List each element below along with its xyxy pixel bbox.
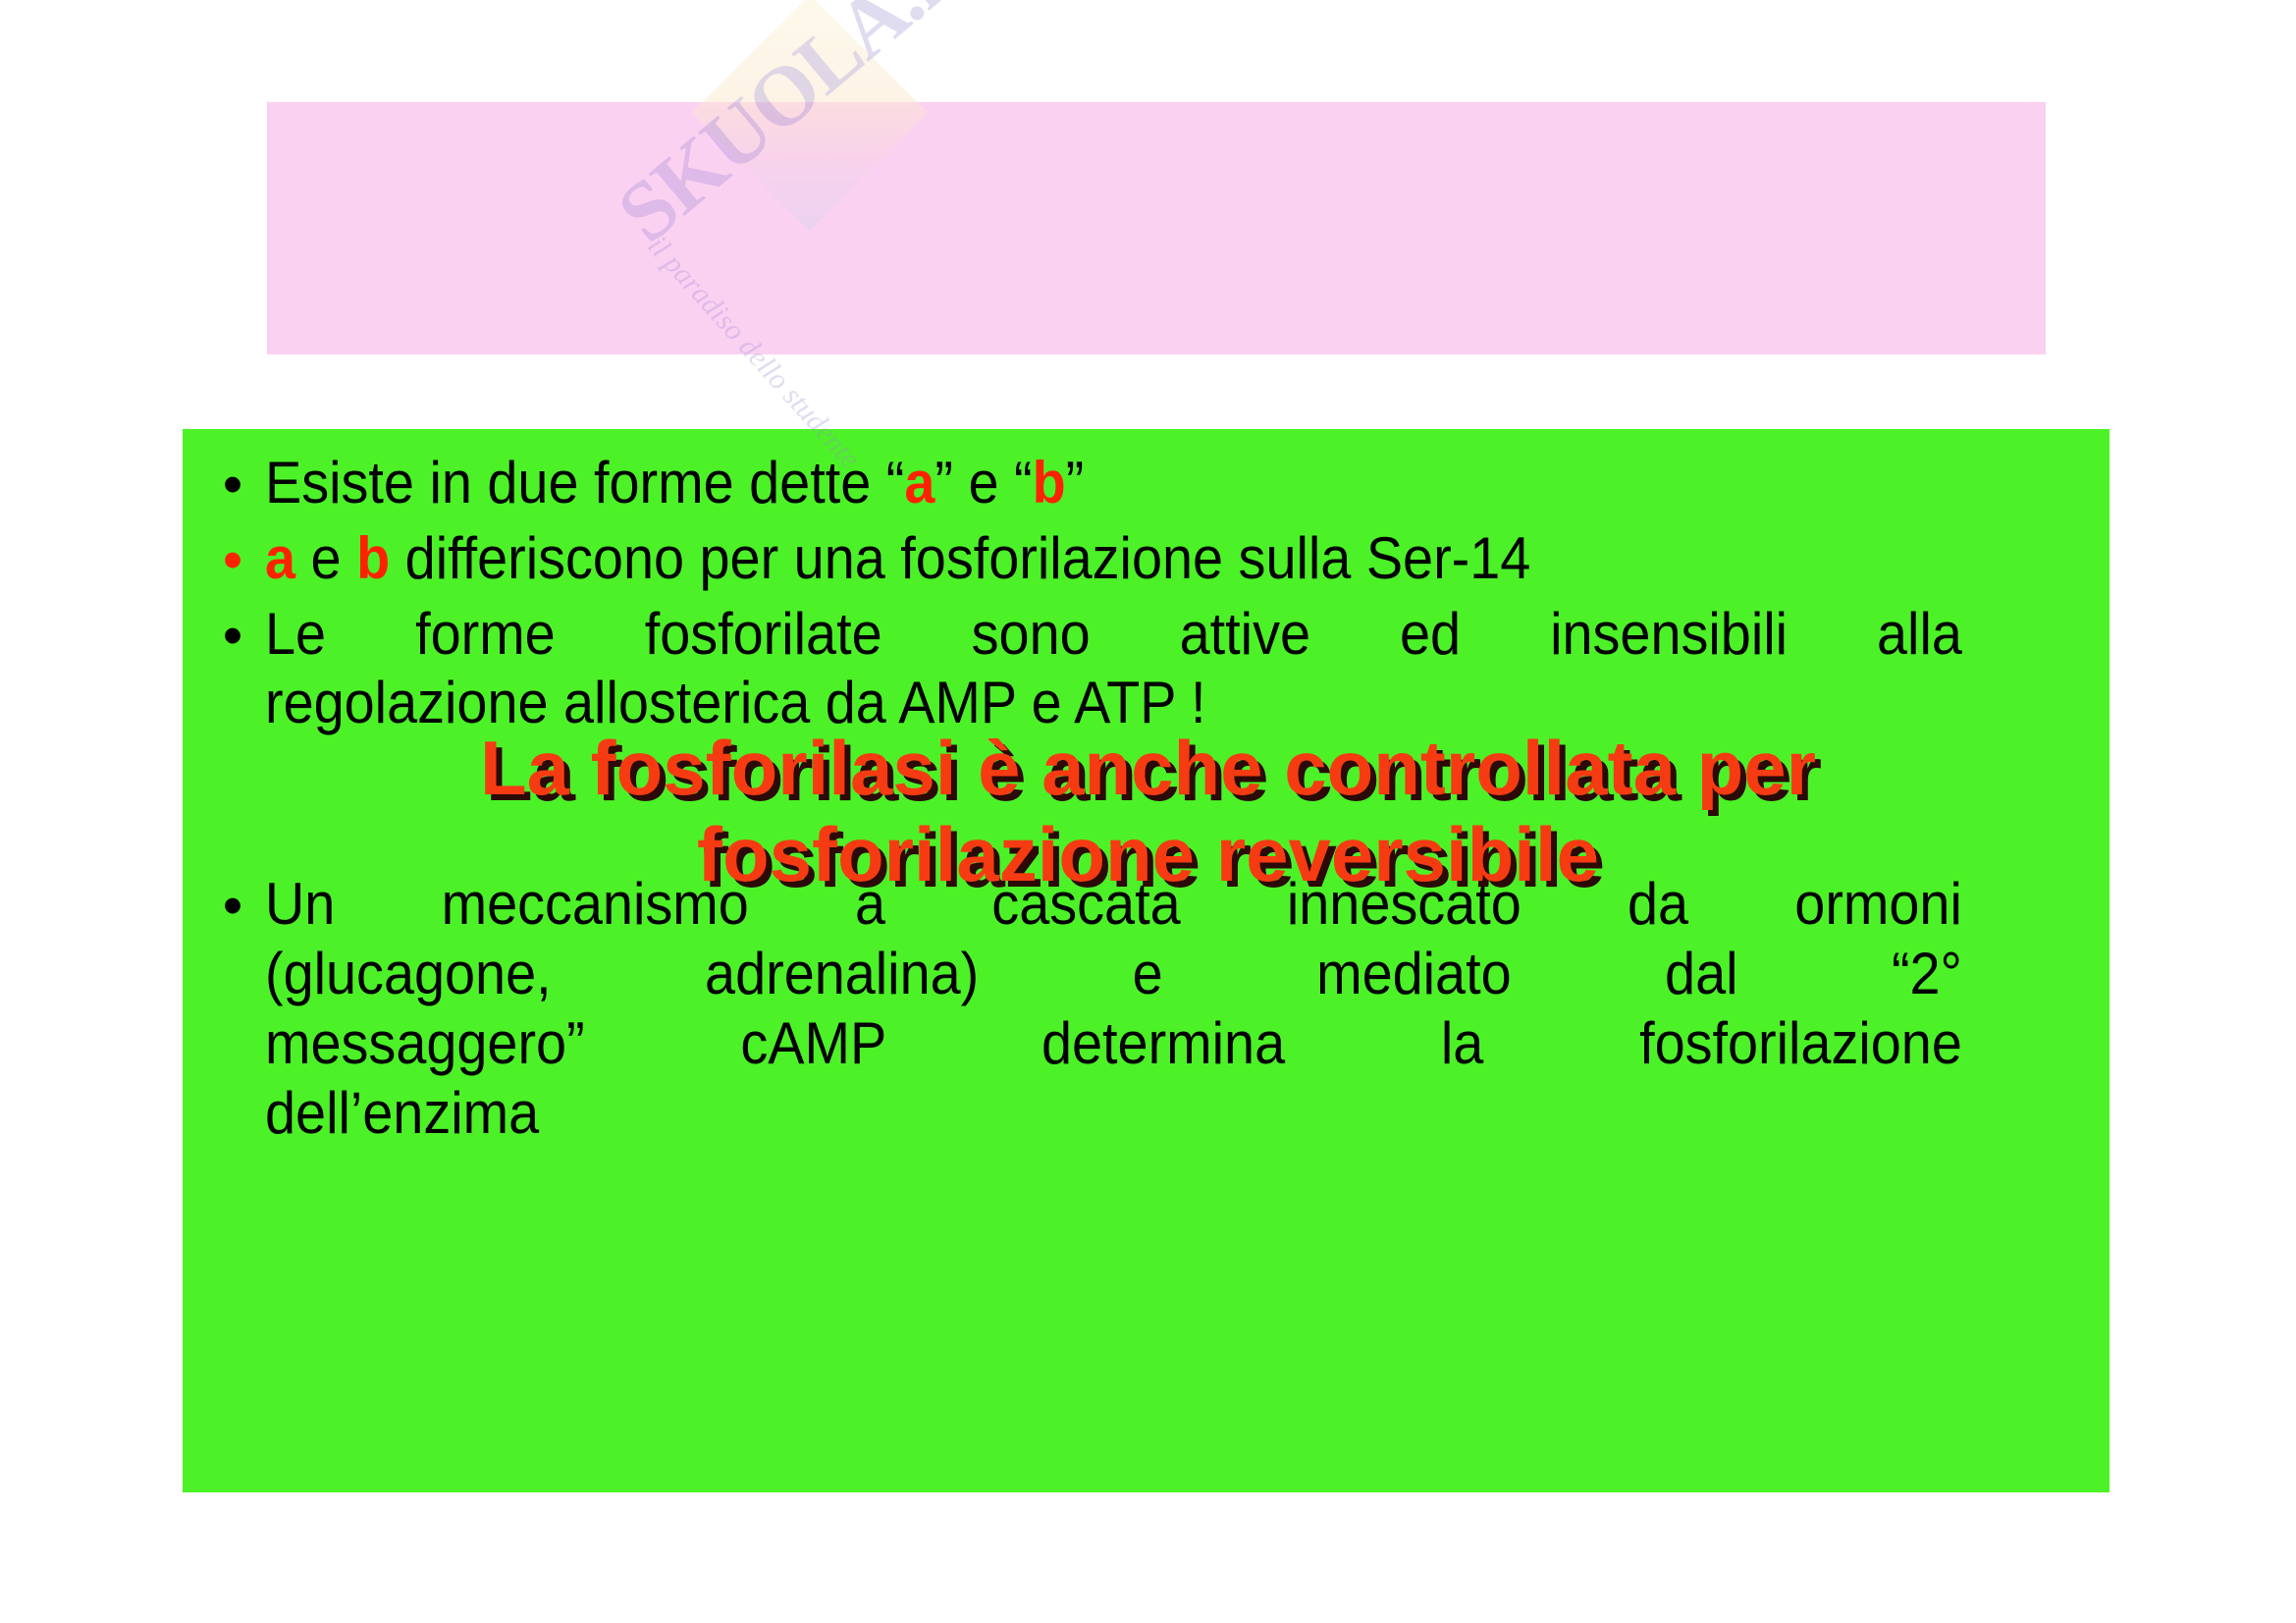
page-title: La fosforilasi è anche controllata per f…	[0, 0, 2296, 1623]
title-line-2: fosforilazione reversibile	[697, 812, 1599, 897]
title-line-1: La fosforilasi è anche controllata per	[480, 726, 1816, 811]
